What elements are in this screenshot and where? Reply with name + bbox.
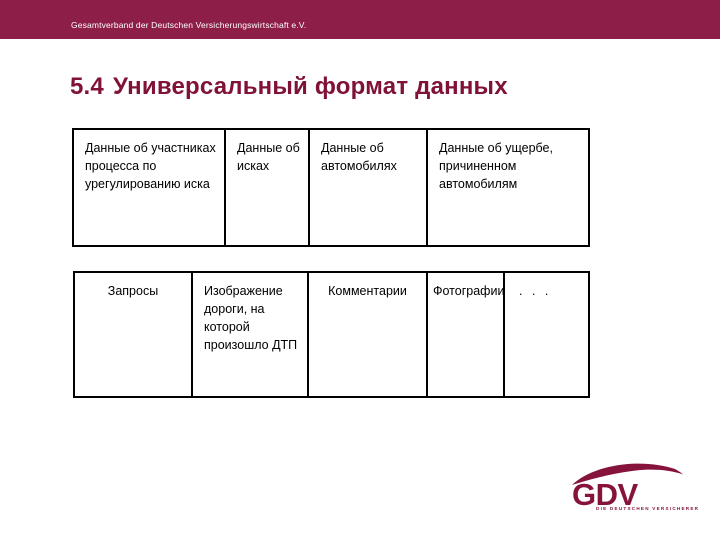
data-category-table-primary: Данные об участниках процесса по урегули…	[72, 128, 590, 247]
table-cell-ellipsis: . . .	[505, 273, 588, 396]
gdv-logo: GDV DIE DEUTSCHEN VERSICHERER	[572, 462, 692, 522]
data-category-table-secondary: Запросы Изображение дороги, на которой п…	[73, 271, 590, 398]
table-cell: Данные об участниках процесса по урегули…	[74, 130, 226, 245]
table-cell: Запросы	[75, 273, 193, 396]
page-title: 5.4Универсальный формат данных	[70, 73, 508, 101]
header-banner: Gesamtverband der Deutschen Versicherung…	[0, 0, 720, 39]
slide-number: 5.4	[70, 73, 104, 100]
slide-title-text: Универсальный формат данных	[113, 73, 508, 100]
table-cell: Данные об автомобилях	[310, 130, 428, 245]
table-cell: Данные об исках	[226, 130, 310, 245]
table-cell: Данные об ущербе, причиненном автомобиля…	[428, 130, 588, 245]
organization-name: Gesamtverband der Deutschen Versicherung…	[71, 20, 306, 30]
table-cell: Комментарии	[309, 273, 428, 396]
gdv-tagline: DIE DEUTSCHEN VERSICHERER	[596, 506, 699, 511]
table-cell: Фотографии	[428, 273, 505, 396]
table-cell: Изображение дороги, на которой произошло…	[193, 273, 309, 396]
